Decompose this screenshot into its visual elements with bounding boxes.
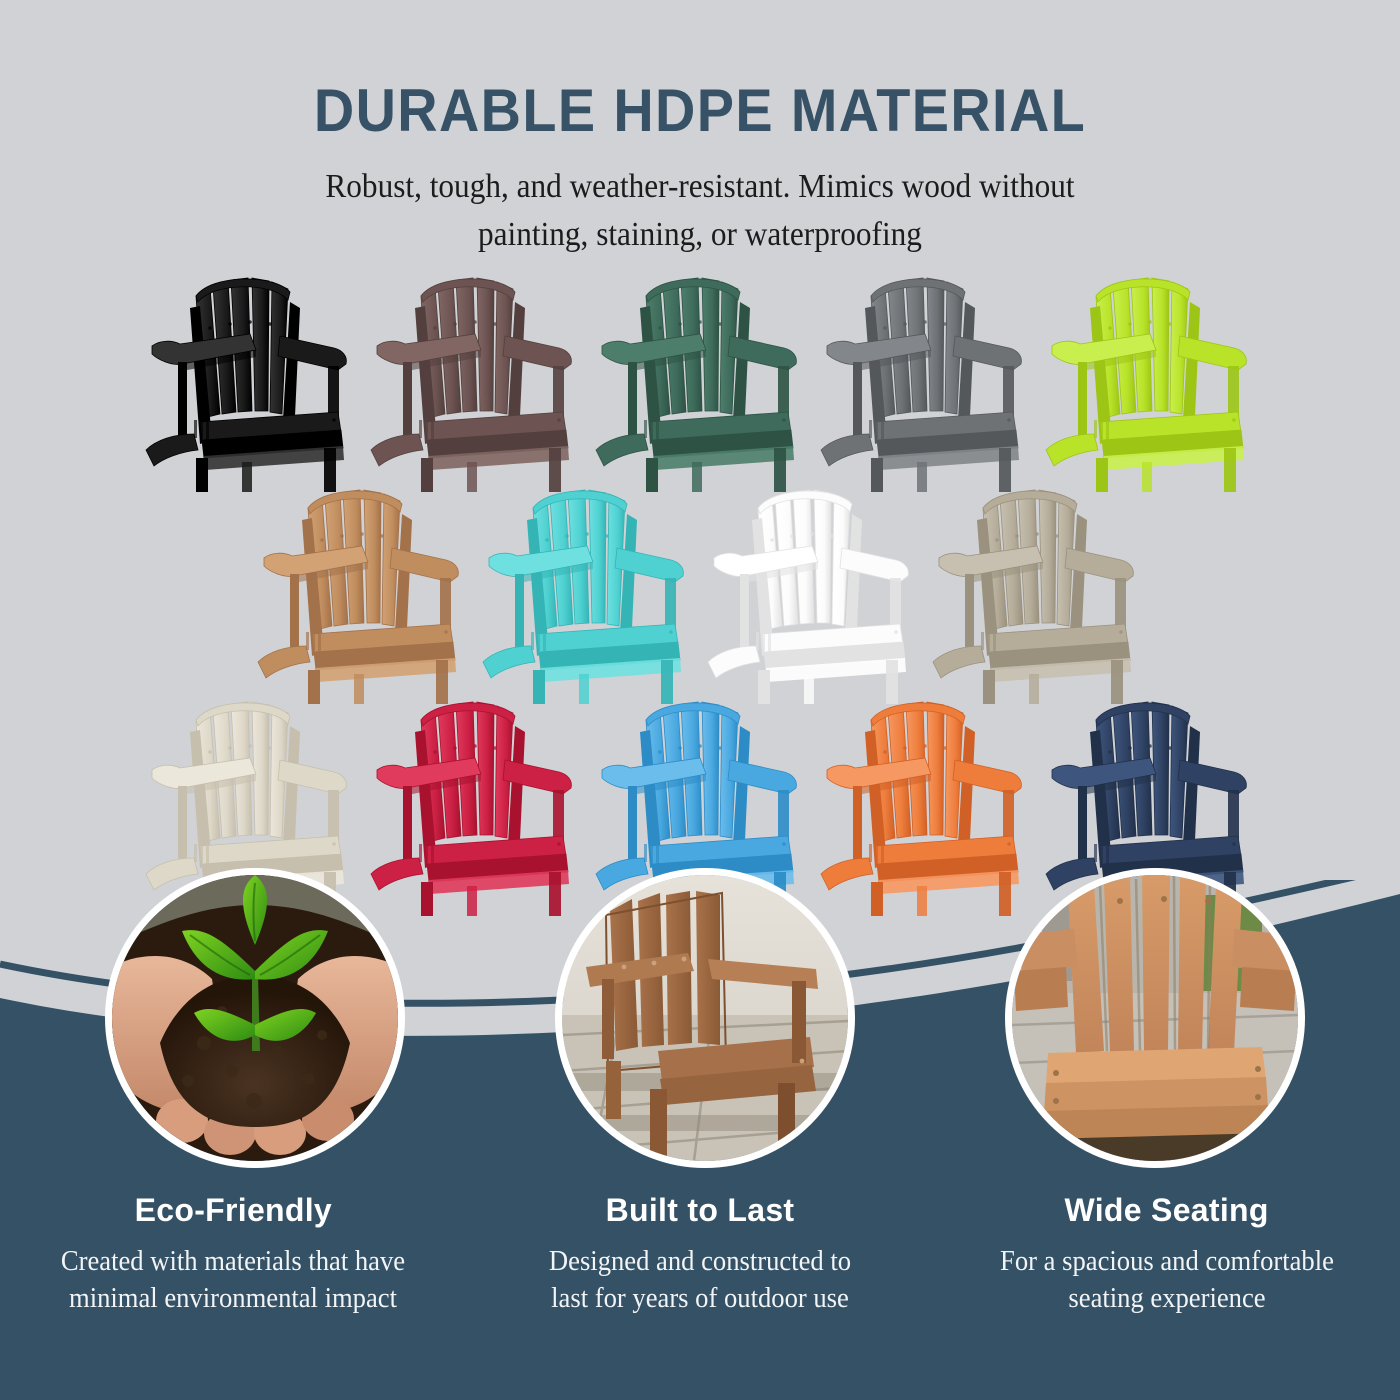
feature-body-line-2: seating experience — [1068, 1283, 1265, 1314]
chair-swatch-black[interactable] — [138, 262, 363, 492]
chair-illustration — [138, 262, 363, 492]
chair-swatch-teak[interactable] — [250, 474, 475, 704]
chair-illustration — [813, 262, 1038, 492]
subtitle-line-2: painting, staining, or waterproofing — [258, 211, 1141, 259]
feature-circle-eco-friendly[interactable] — [105, 868, 405, 1168]
chair-illustration — [250, 474, 475, 704]
feature-heading: Eco-Friendly — [0, 1192, 467, 1229]
feature-body: Created with materials that have minimal… — [29, 1243, 438, 1317]
chair-swatch-gray[interactable] — [813, 262, 1038, 492]
feature-body-line-2: last for years of outdoor use — [551, 1283, 849, 1314]
chair-color-grid — [0, 262, 1400, 916]
feature-body: Designed and constructed to last for yea… — [496, 1243, 905, 1317]
chair-swatch-white[interactable] — [700, 474, 925, 704]
chair-swatch-turquoise[interactable] — [475, 474, 700, 704]
feature-body-line-1: Designed and constructed to — [549, 1246, 851, 1277]
feature-eco-friendly: Eco-Friendly Created with materials that… — [0, 1192, 467, 1317]
feature-heading: Wide Seating — [933, 1192, 1400, 1229]
chair-swatch-brown[interactable] — [363, 262, 588, 492]
chair-illustration — [700, 474, 925, 704]
feature-built-to-last: Built to Last Designed and constructed t… — [467, 1192, 934, 1317]
feature-body: For a spacious and comfortable seating e… — [962, 1243, 1371, 1317]
feature-body-line-2: minimal environmental impact — [69, 1283, 397, 1314]
chair-swatch-khaki[interactable] — [925, 474, 1150, 704]
chair-illustration — [1038, 262, 1263, 492]
infographic-page: DURABLE HDPE MATERIAL Robust, tough, and… — [0, 0, 1400, 1400]
chair-swatch-dark-green[interactable] — [588, 262, 813, 492]
chair-illustration — [925, 474, 1150, 704]
page-subtitle: Robust, tough, and weather-resistant. Mi… — [258, 145, 1141, 260]
chair-row-2 — [0, 474, 1400, 704]
feature-captions: Eco-Friendly Created with materials that… — [0, 1192, 1400, 1317]
chair-illustration — [475, 474, 700, 704]
chair-illustration — [363, 262, 588, 492]
feature-circle-built-to-last[interactable] — [555, 868, 855, 1168]
page-title: DURABLE HDPE MATERIAL — [49, 0, 1351, 145]
header: DURABLE HDPE MATERIAL Robust, tough, and… — [0, 0, 1400, 260]
feature-body-line-1: Created with materials that have — [61, 1246, 405, 1277]
feature-circle-wide-seating[interactable] — [1005, 868, 1305, 1168]
feature-body-line-1: For a spacious and comfortable — [1000, 1246, 1334, 1277]
chair-illustration — [588, 262, 813, 492]
chair-swatch-lime-green[interactable] — [1038, 262, 1263, 492]
chair-row-1 — [0, 262, 1400, 492]
feature-wide-seating: Wide Seating For a spacious and comforta… — [933, 1192, 1400, 1317]
subtitle-line-1: Robust, tough, and weather-resistant. Mi… — [258, 163, 1141, 211]
feature-heading: Built to Last — [467, 1192, 934, 1229]
